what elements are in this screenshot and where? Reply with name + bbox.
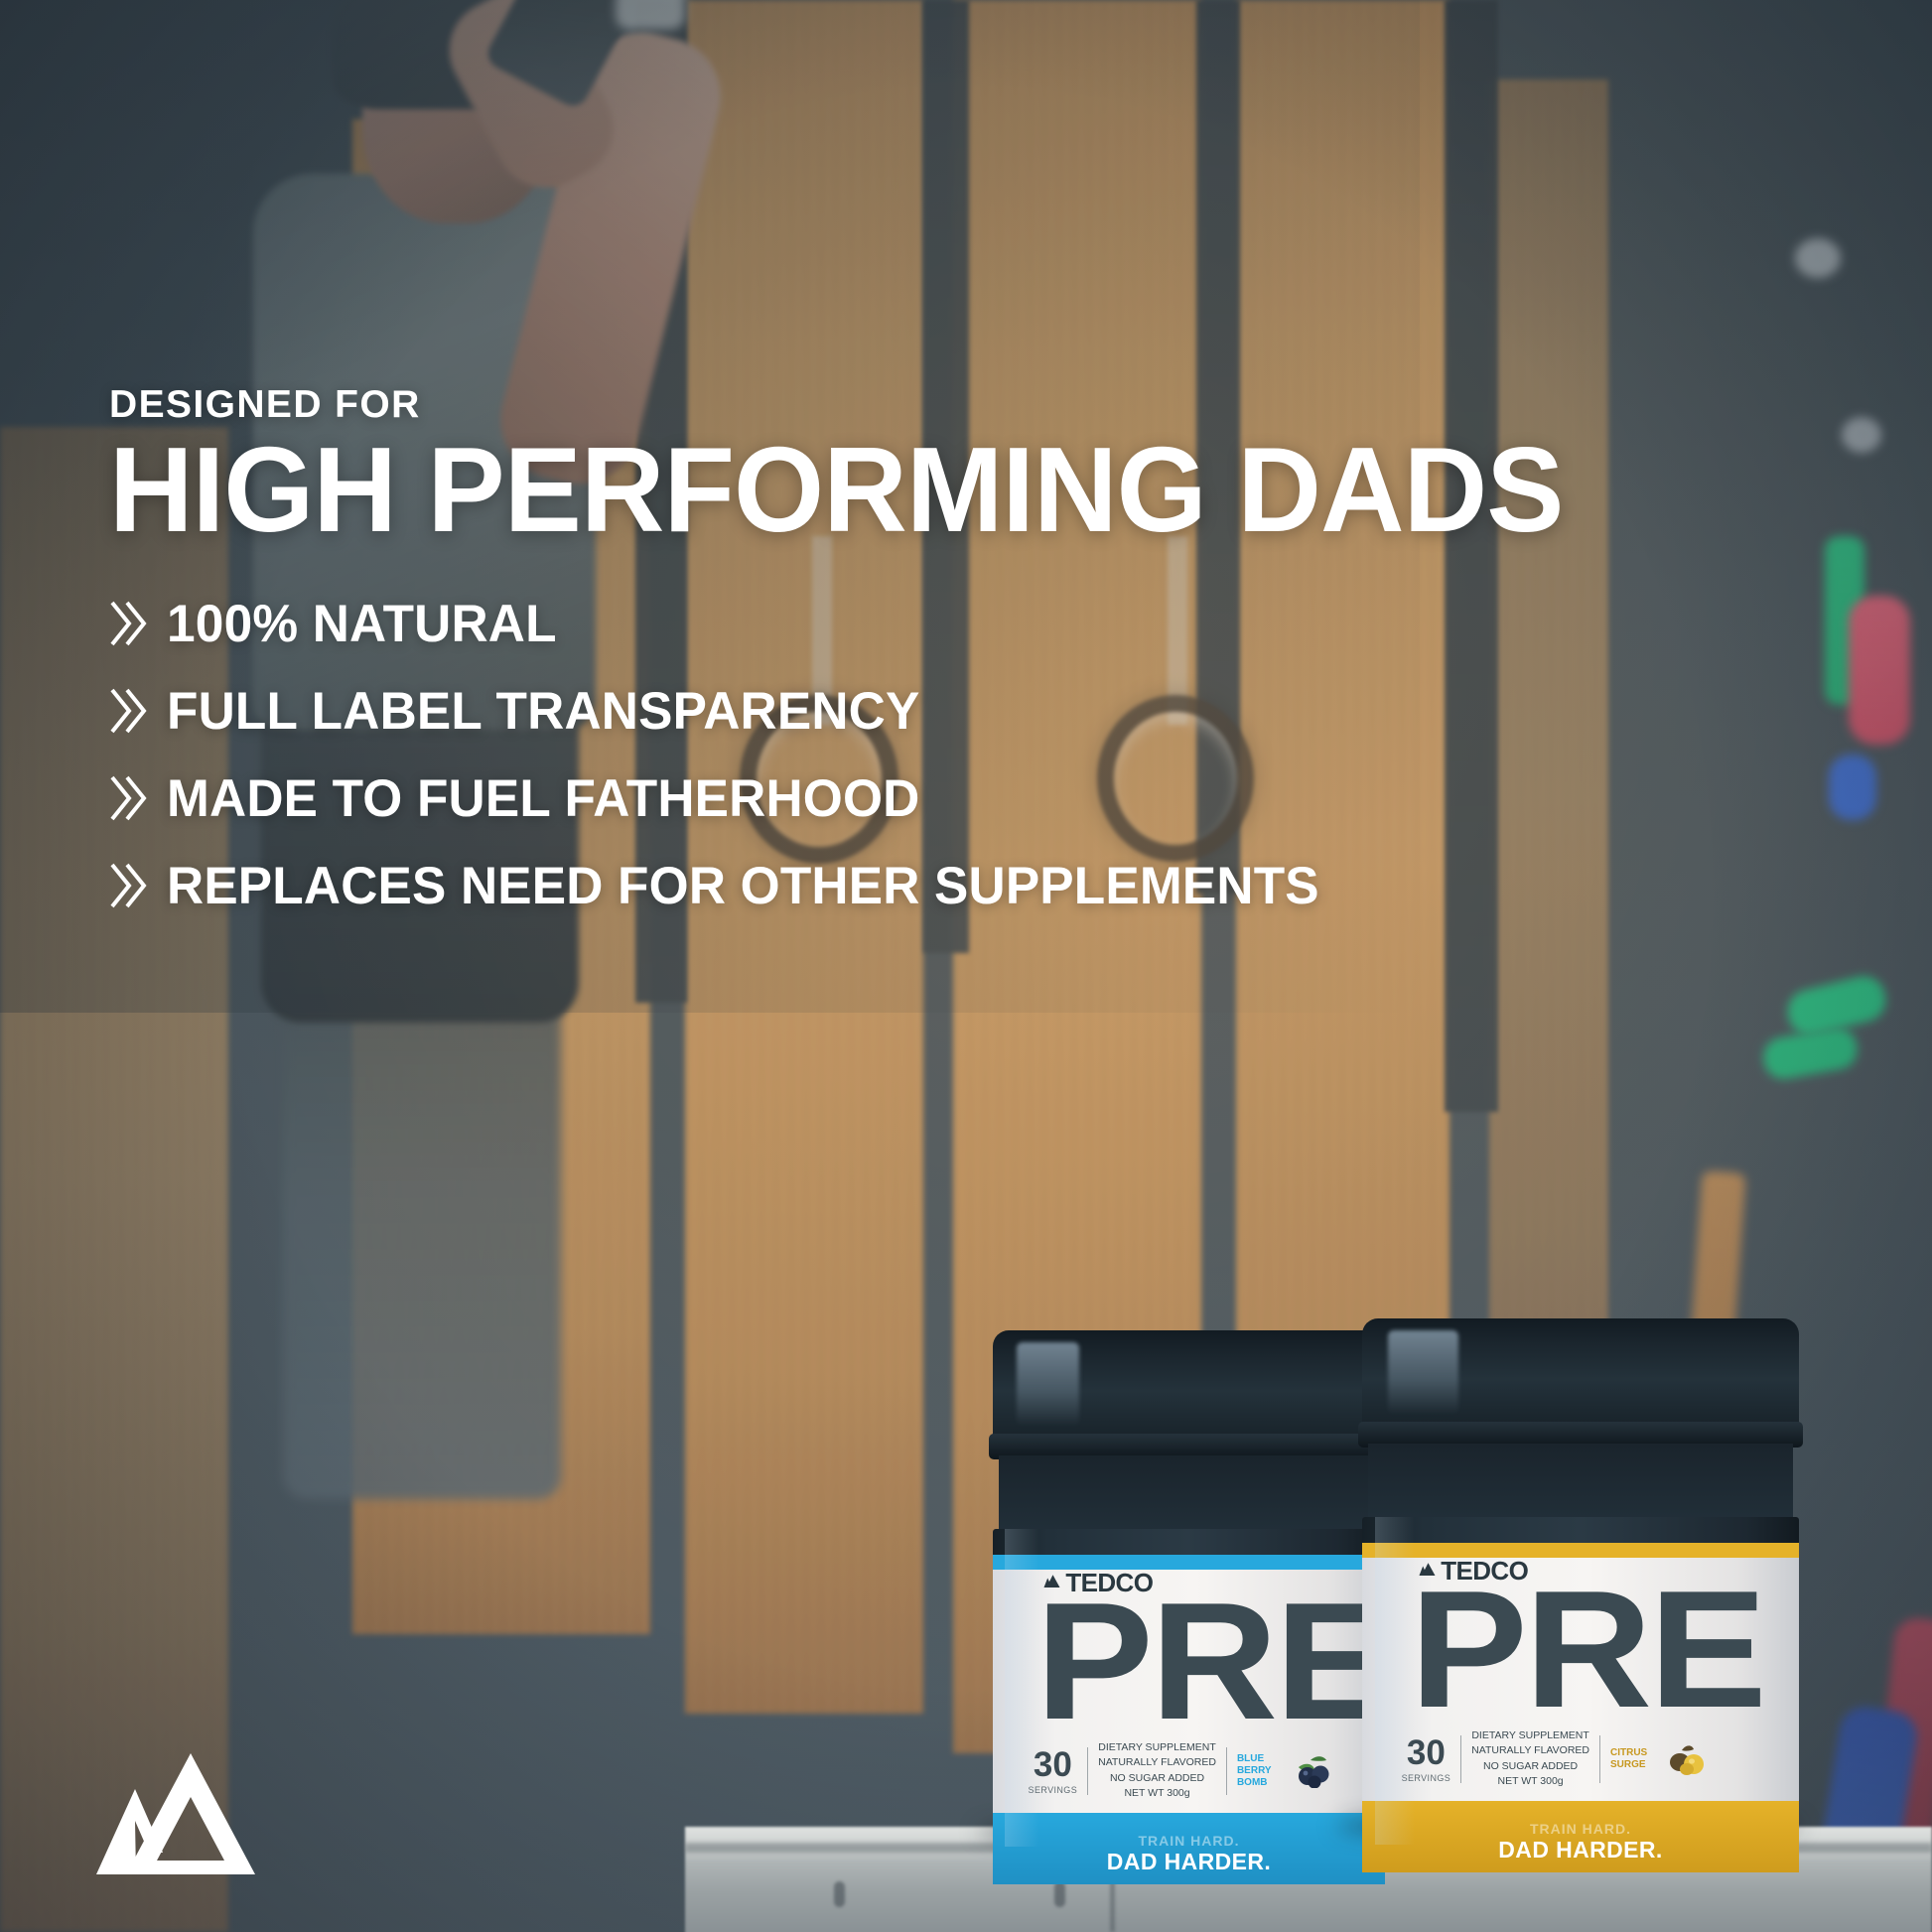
flavor-name: CITRUS SURGE xyxy=(1610,1747,1654,1771)
list-item: FULL LABEL TRANSPARENCY xyxy=(109,667,1598,755)
tub-lid xyxy=(993,1330,1385,1448)
benefit-label: REPLACES NEED FOR OTHER SUPPLEMENTS xyxy=(167,860,1319,912)
blueberry-icon xyxy=(1291,1754,1336,1788)
benefit-label: FULL LABEL TRANSPARENCY xyxy=(167,685,919,738)
tagline-small: TRAIN HARD. xyxy=(1362,1822,1799,1836)
tagline-small: TRAIN HARD. xyxy=(993,1834,1385,1848)
product-name: PRE xyxy=(1035,1585,1385,1738)
benefit-label: MADE TO FUEL FATHERHOOD xyxy=(167,772,919,825)
product-label: TEDCO PRE 30 SERVINGS DIETARY SUPPLEMENT… xyxy=(993,1555,1385,1884)
benefit-label: 100% NATURAL xyxy=(167,598,557,650)
tagline-block: TRAIN HARD. DAD HARDER. xyxy=(1362,1822,1799,1862)
eyebrow-text: DESIGNED FOR xyxy=(109,385,1598,424)
list-item: REPLACES NEED FOR OTHER SUPPLEMENTS xyxy=(109,842,1598,929)
tagline-block: TRAIN HARD. DAD HARDER. xyxy=(993,1834,1385,1873)
servings-block: 30 SERVINGS xyxy=(1029,1747,1078,1795)
double-chevron-right-icon xyxy=(109,773,147,823)
marketing-copy-block: DESIGNED FOR HIGH PERFORMING DADS 100% N… xyxy=(109,385,1598,929)
benefits-list: 100% NATURAL FULL LABEL TRANSPARENCY xyxy=(109,580,1598,929)
tagline-large: DAD HARDER. xyxy=(1362,1839,1799,1862)
servings-count: 30 xyxy=(1402,1735,1451,1770)
label-divider xyxy=(1087,1747,1088,1795)
servings-label: SERVINGS xyxy=(1402,1774,1451,1783)
fine-print: DIETARY SUPPLEMENT NATURALLY FLAVORED NO… xyxy=(1098,1740,1216,1801)
tagline-large: DAD HARDER. xyxy=(993,1851,1385,1873)
label-divider xyxy=(1226,1747,1227,1795)
list-item: MADE TO FUEL FATHERHOOD xyxy=(109,755,1598,842)
label-footer: 30 SERVINGS DIETARY SUPPLEMENT NATURALLY… xyxy=(1402,1728,1773,1789)
flavor-name: BLUE BERRY BOMB xyxy=(1237,1753,1281,1789)
label-footer: 30 SERVINGS DIETARY SUPPLEMENT NATURALLY… xyxy=(1029,1740,1362,1801)
double-chevron-right-icon xyxy=(109,599,147,648)
mountain-peaks-logo xyxy=(91,1745,260,1880)
product-tub-blueberry[interactable]: TEDCO PRE 30 SERVINGS DIETARY SUPPLEMENT… xyxy=(993,1330,1385,1847)
servings-label: SERVINGS xyxy=(1029,1786,1078,1795)
double-chevron-right-icon xyxy=(109,686,147,736)
fine-print: DIETARY SUPPLEMENT NATURALLY FLAVORED NO… xyxy=(1471,1728,1589,1789)
product-label: TEDCO PRE 30 SERVINGS DIETARY SUPPLEMENT… xyxy=(1362,1543,1799,1872)
tub-lid xyxy=(1362,1318,1799,1436)
label-tagline-band: TRAIN HARD. DAD HARDER. xyxy=(993,1813,1385,1884)
product-tub-citrus[interactable]: TEDCO PRE 30 SERVINGS DIETARY SUPPLEMENT… xyxy=(1362,1318,1799,1845)
product-name: PRE xyxy=(1410,1573,1799,1726)
page-title: HIGH PERFORMING DADS xyxy=(109,434,1539,546)
label-divider xyxy=(1599,1735,1600,1783)
label-tagline-band: TRAIN HARD. DAD HARDER. xyxy=(1362,1801,1799,1872)
advertisement-creative: DESIGNED FOR HIGH PERFORMING DADS 100% N… xyxy=(0,0,1932,1932)
double-chevron-right-icon xyxy=(109,861,147,910)
list-item: 100% NATURAL xyxy=(109,580,1598,667)
servings-block: 30 SERVINGS xyxy=(1402,1735,1451,1783)
servings-count: 30 xyxy=(1029,1747,1078,1782)
platform-screw xyxy=(1054,1881,1065,1907)
label-divider xyxy=(1460,1735,1461,1783)
lemon-icon xyxy=(1664,1742,1710,1776)
platform-screw xyxy=(834,1881,845,1907)
